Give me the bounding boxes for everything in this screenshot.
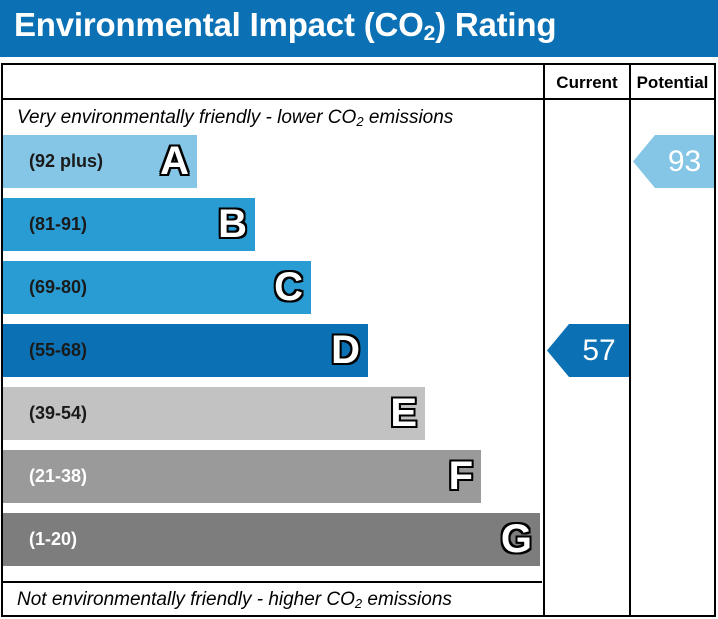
band-letter-c: C <box>274 261 303 314</box>
band-letter-e: E <box>390 387 417 440</box>
band-letter-a: A <box>160 135 189 188</box>
band-range-e: (39-54) <box>29 387 87 440</box>
rating-band-d: (55-68)D <box>3 324 368 377</box>
rating-table: Current Potential Very environmentally f… <box>1 63 716 617</box>
title-subscript: 2 <box>424 22 435 45</box>
caption-top-subscript: 2 <box>356 114 363 129</box>
band-range-d: (55-68) <box>29 324 87 377</box>
rating-bands: (92 plus)A(81-91)B(69-80)C(55-68)D(39-54… <box>3 135 542 579</box>
band-range-c: (69-80) <box>29 261 87 314</box>
current-rating-value: 57 <box>569 324 629 377</box>
band-range-f: (21-38) <box>29 450 87 503</box>
band-range-a: (92 plus) <box>29 135 103 188</box>
column-header-current: Current <box>545 71 629 95</box>
caption-top: Very environmentally friendly - lower CO… <box>17 105 453 131</box>
potential-rating-arrow: 93 <box>633 135 714 188</box>
column-header-potential: Potential <box>631 71 714 95</box>
band-range-g: (1-20) <box>29 513 77 566</box>
rating-band-g: (1-20)G <box>3 513 540 566</box>
bottom-caption-divider <box>3 581 542 583</box>
caption-bottom-subscript: 2 <box>355 596 362 611</box>
current-column-divider <box>543 65 545 615</box>
environmental-impact-rating-chart: Environmental Impact (CO2) Rating Curren… <box>0 0 718 619</box>
band-letter-f: F <box>449 450 473 503</box>
chart-title-bar: Environmental Impact (CO2) Rating <box>0 0 718 57</box>
rating-band-c: (69-80)C <box>3 261 311 314</box>
page-title: Environmental Impact (CO2) Rating <box>14 6 556 44</box>
rating-band-e: (39-54)E <box>3 387 425 440</box>
current-rating-arrow: 57 <box>547 324 629 377</box>
band-letter-g: G <box>501 513 532 566</box>
potential-column-divider <box>629 65 631 615</box>
header-divider <box>3 98 714 100</box>
band-letter-d: D <box>331 324 360 377</box>
rating-band-b: (81-91)B <box>3 198 255 251</box>
rating-band-a: (92 plus)A <box>3 135 197 188</box>
band-range-b: (81-91) <box>29 198 87 251</box>
potential-rating-value: 93 <box>655 135 714 188</box>
rating-band-f: (21-38)F <box>3 450 481 503</box>
band-letter-b: B <box>218 198 247 251</box>
caption-bottom: Not environmentally friendly - higher CO… <box>17 587 452 613</box>
